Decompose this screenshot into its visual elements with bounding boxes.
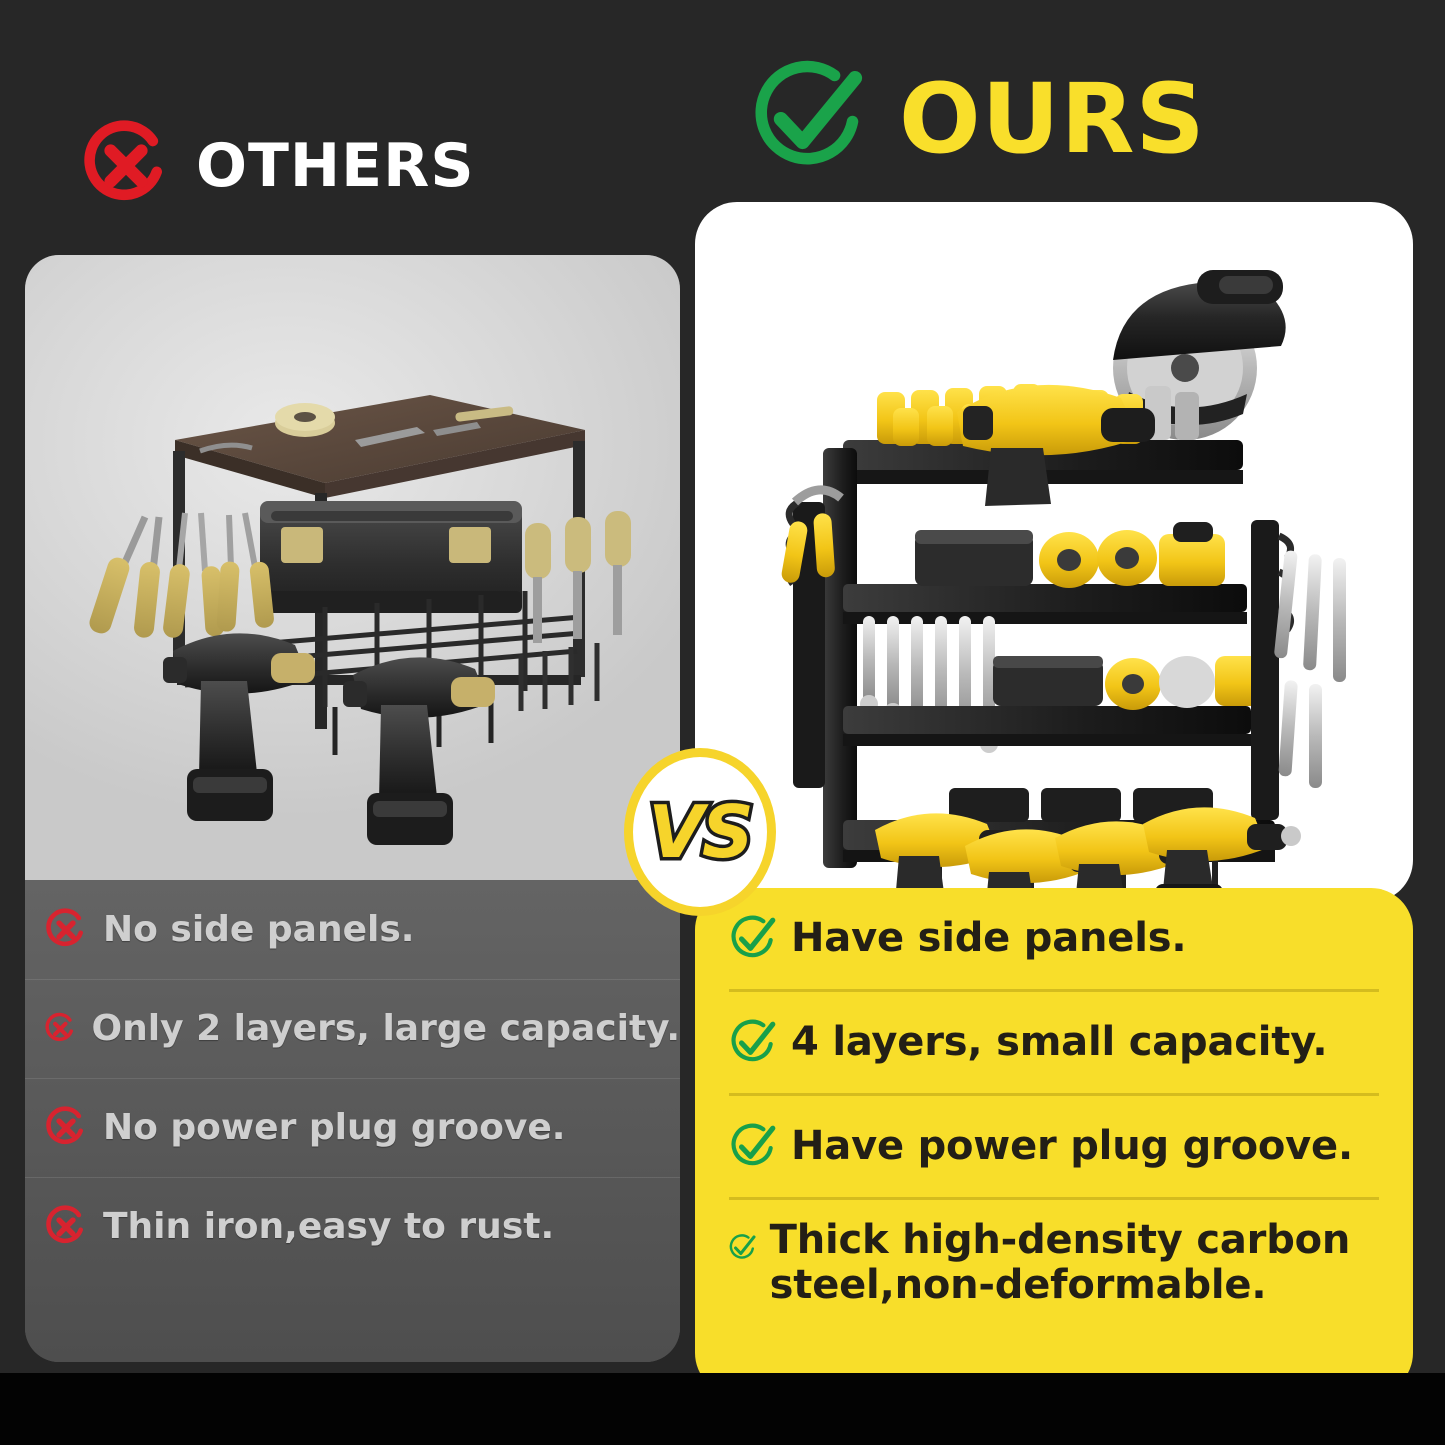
list-item-label: 4 layers, small capacity.: [791, 1020, 1327, 1065]
ours-product-image: [695, 202, 1413, 902]
list-item-label: No power plug groove.: [103, 1108, 565, 1148]
list-item: Have side panels.: [695, 888, 1413, 989]
circle-x-icon: [43, 1105, 89, 1151]
circle-x-icon: [78, 118, 174, 214]
list-item: No side panels.: [25, 880, 680, 979]
others-panel: No side panels. Only 2 layers, large cap…: [25, 255, 680, 1362]
others-product-image: [25, 255, 680, 880]
list-item-label: Thin iron,easy to rust.: [103, 1207, 554, 1247]
list-item: Only 2 layers, large capacity.: [25, 979, 680, 1078]
list-item: Thick high-density carbon steel,non-defo…: [695, 1200, 1413, 1308]
circle-check-icon: [727, 913, 779, 965]
others-product-illustration: [25, 255, 680, 880]
list-item-label: Have side panels.: [791, 916, 1186, 961]
comparison-infographic: OTHERS OURS: [0, 0, 1445, 1445]
list-item-label: Have power plug groove.: [791, 1124, 1353, 1169]
list-item: 4 layers, small capacity.: [695, 992, 1413, 1093]
ours-product-card: [695, 202, 1413, 902]
list-item: Have power plug groove.: [695, 1096, 1413, 1197]
circle-x-icon: [43, 1204, 89, 1250]
others-header: OTHERS: [78, 118, 475, 214]
ours-title: OURS: [899, 71, 1206, 167]
others-title: OTHERS: [196, 136, 475, 196]
circle-check-icon: [727, 1017, 779, 1069]
ours-feature-list: Have side panels. 4 layers, small capaci…: [695, 888, 1413, 1395]
vs-label: VS: [648, 796, 752, 868]
circle-x-icon: [43, 1006, 78, 1052]
footer-band: [0, 1373, 1445, 1445]
circle-check-icon: [727, 1121, 779, 1173]
ours-header: OURS: [745, 55, 1206, 183]
list-item-label: Thick high-density carbon steel,non-defo…: [770, 1218, 1413, 1308]
list-item: No power plug groove.: [25, 1078, 680, 1177]
circle-x-icon: [43, 907, 89, 953]
circle-check-icon: [745, 55, 873, 183]
ours-product-illustration: [695, 202, 1413, 902]
list-item-label: No side panels.: [103, 910, 414, 950]
vs-badge: VS: [624, 748, 776, 916]
circle-check-icon: [727, 1222, 758, 1274]
list-item-label: Only 2 layers, large capacity.: [92, 1009, 680, 1049]
list-item: Thin iron,easy to rust.: [25, 1177, 680, 1276]
others-feature-list: No side panels. Only 2 layers, large cap…: [25, 880, 680, 1362]
